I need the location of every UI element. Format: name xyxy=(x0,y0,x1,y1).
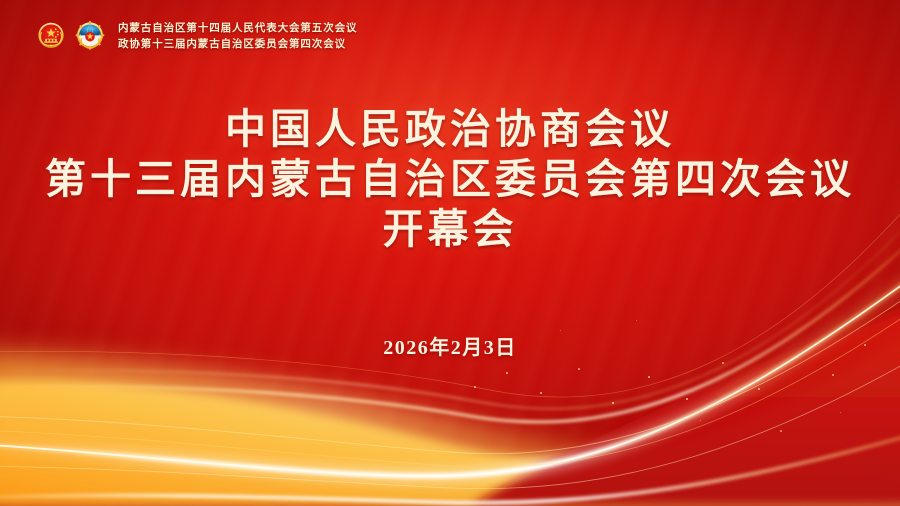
title-line-1: 中国人民政治协商会议 xyxy=(0,104,900,154)
title-line-3: 开幕会 xyxy=(0,204,900,254)
header-line-cppcc: 政协第十三届内蒙古自治区委员会第四次会议 xyxy=(118,38,357,50)
main-title: 中国人民政治协商会议 第十三届内蒙古自治区委员会第四次会议 开幕会 xyxy=(0,104,900,254)
event-date: 2026年2月3日 xyxy=(0,331,900,360)
cppcc-emblem-icon xyxy=(73,19,107,53)
header-text-lines: 内蒙古自治区第十四届人民代表大会第五次会议 政协第十三届内蒙古自治区委员会第四次… xyxy=(118,22,357,49)
emblem-group xyxy=(34,19,107,53)
title-line-2: 第十三届内蒙古自治区委员会第四次会议 xyxy=(0,154,900,204)
national-emblem-of-china-icon xyxy=(34,19,68,53)
header-line-npc: 内蒙古自治区第十四届人民代表大会第五次会议 xyxy=(118,22,357,34)
conference-backdrop: 内蒙古自治区第十四届人民代表大会第五次会议 政协第十三届内蒙古自治区委员会第四次… xyxy=(0,0,900,506)
header: 内蒙古自治区第十四届人民代表大会第五次会议 政协第十三届内蒙古自治区委员会第四次… xyxy=(34,19,357,53)
